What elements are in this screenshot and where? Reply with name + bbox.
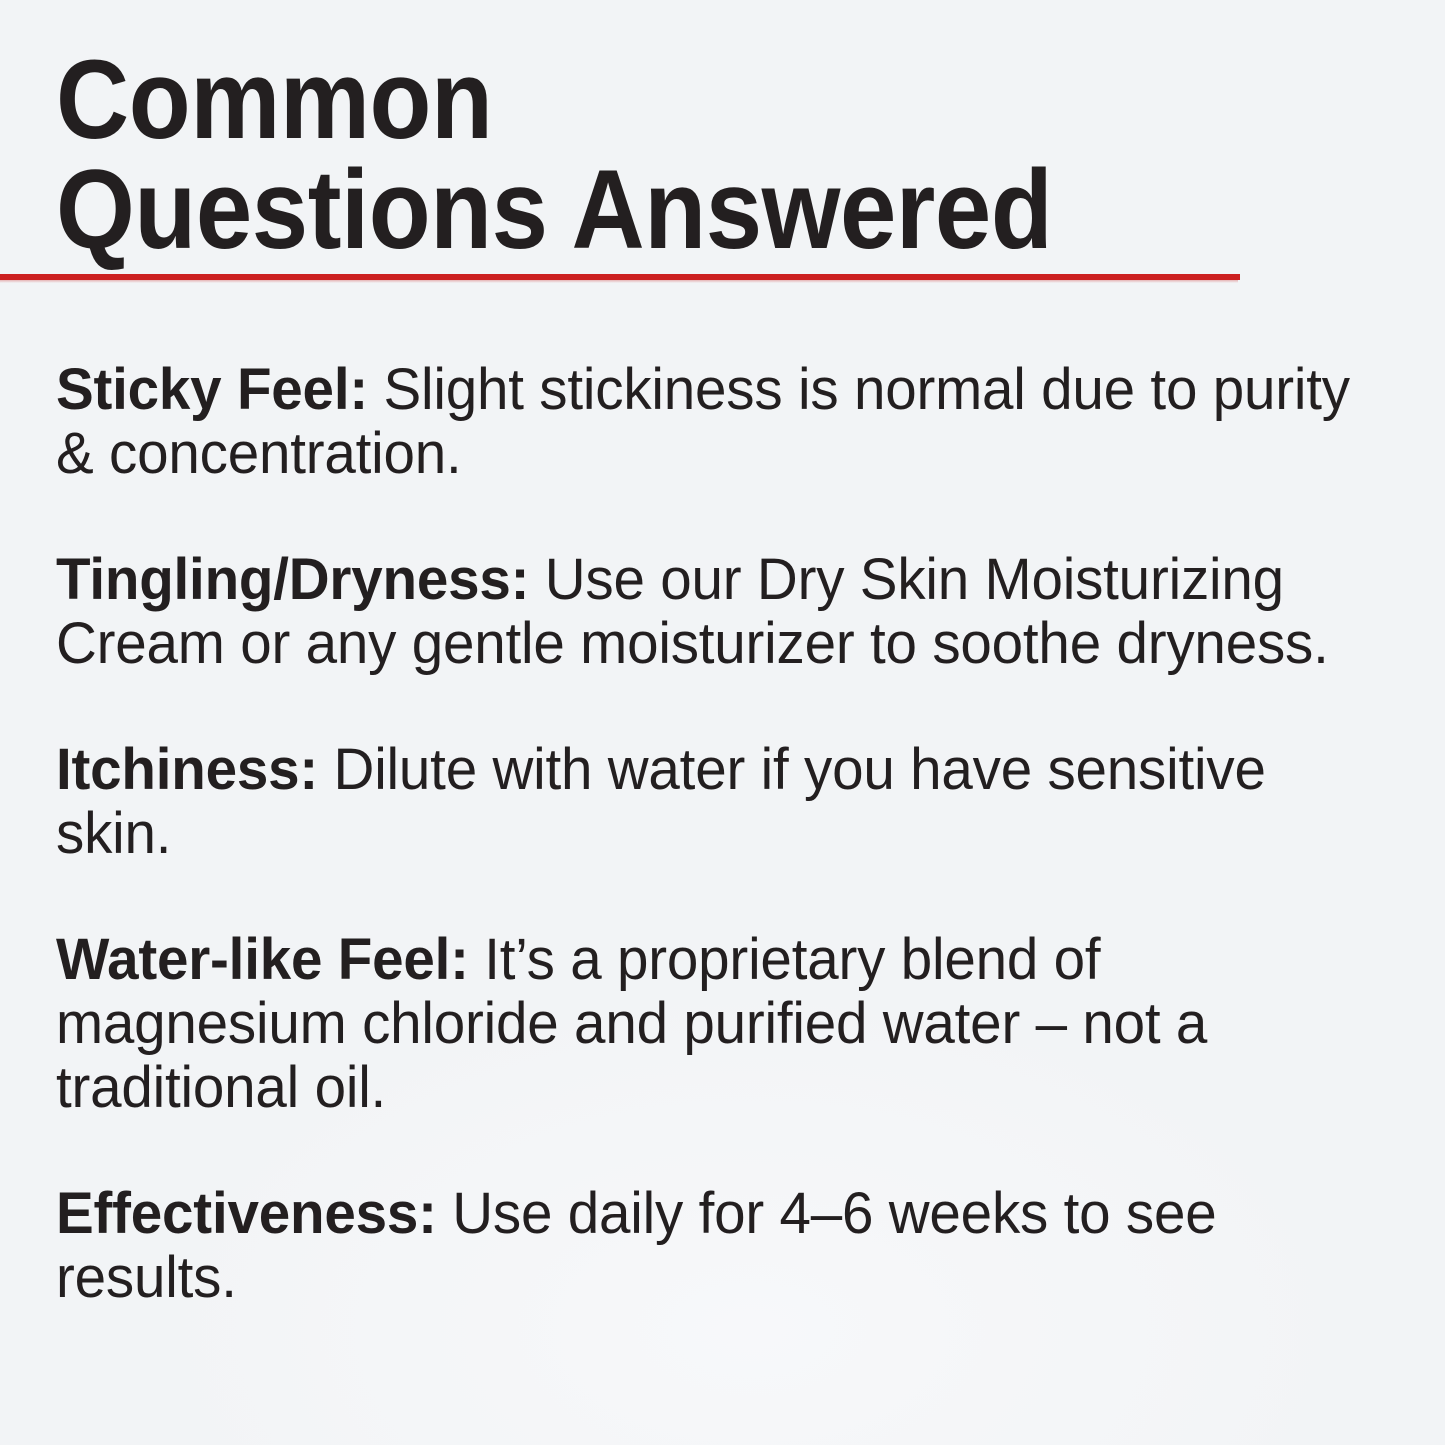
faq-term: Tingling/Dryness: [56,547,529,612]
faq-item: Itchiness: Dilute with water if you have… [56,738,1394,866]
faq-item: Water-like Feel: It’s a proprietary blen… [56,928,1394,1120]
faq-term: Sticky Feel: [56,357,368,422]
faq-term: Itchiness: [56,737,318,802]
title-divider [0,274,1240,284]
faq-term: Effectiveness: [56,1181,437,1246]
faq-card: Common Questions Answered Sticky Feel: S… [0,0,1445,1445]
faq-term: Water-like Feel: [56,927,469,992]
faq-item: Tingling/Dryness: Use our Dry Skin Moist… [56,548,1394,676]
page-title: Common Questions Answered [56,46,1386,263]
faq-list: Sticky Feel: Slight stickiness is normal… [56,358,1428,1310]
faq-item: Effectiveness: Use daily for 4–6 weeks t… [56,1182,1394,1310]
title-divider-shadow [0,280,1238,283]
page-title-line-2: Questions Answered [56,156,1260,264]
page-title-line-1: Common [56,46,1260,154]
faq-item: Sticky Feel: Slight stickiness is normal… [56,358,1394,486]
